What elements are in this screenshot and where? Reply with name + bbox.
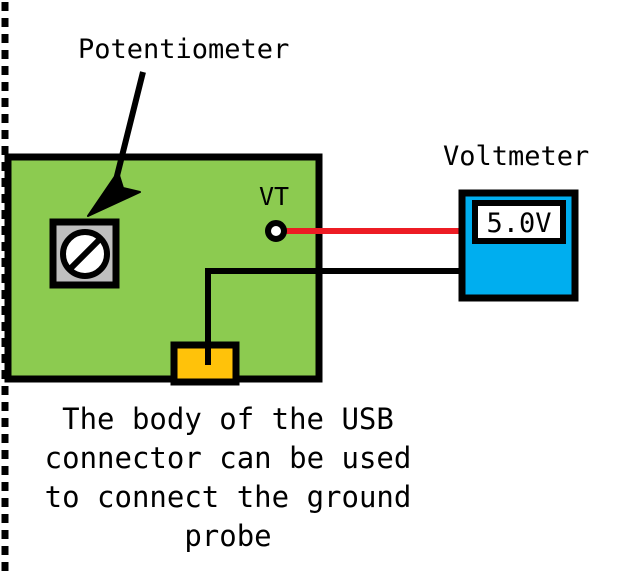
wiring-diagram: 5.0V Potentiometer Voltmeter VT The body… (0, 0, 619, 575)
potentiometer-screw-icon (63, 232, 107, 276)
voltmeter-reading: 5.0V (486, 208, 551, 239)
caption-line-4: probe (184, 519, 271, 553)
caption-line-2: connector can be used (45, 441, 412, 475)
diagram-canvas: 5.0V Potentiometer Voltmeter VT The body… (0, 0, 619, 575)
potentiometer-label: Potentiometer (78, 34, 289, 65)
caption-line-3: to connect the ground (45, 480, 412, 514)
voltmeter-label: Voltmeter (443, 141, 589, 172)
vt-terminal-label: VT (259, 182, 289, 211)
caption-line-1: The body of the USB (62, 402, 394, 436)
vt-terminal-pad (268, 223, 284, 239)
